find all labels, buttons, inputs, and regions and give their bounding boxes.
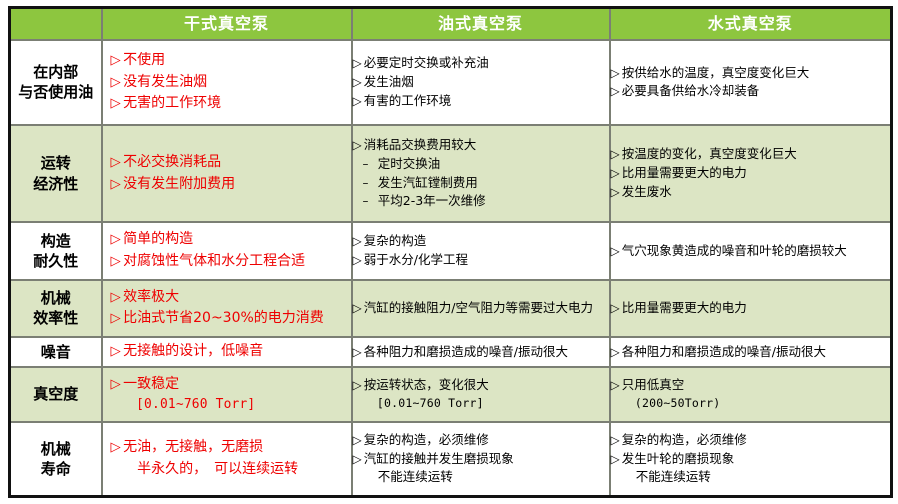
cell-item: 按运转状态，变化很大: [353, 376, 609, 395]
cell-item-list: 必要定时交换或补充油发生油烟有害的工作环境: [353, 54, 609, 110]
cell-item-list: 气穴现象黄造成的噪音和叶轮的磨损较大: [611, 242, 891, 261]
triangle-bullet-icon: [611, 165, 622, 183]
cell-item: 比油式节省20~30%的电力消费: [111, 308, 351, 330]
cell-item: 无油，无接触，无磨损: [111, 437, 351, 459]
cell-item-text: 不使用: [123, 52, 165, 68]
cell-item: 消耗品交换费用较大: [353, 136, 609, 155]
cell-item-text: 定时交换油: [374, 156, 440, 171]
cell-item: 平均2-3年一次维修: [353, 192, 609, 211]
dash-bullet-icon: [363, 193, 374, 211]
row-label-line: 机械: [11, 288, 101, 308]
cell-item-text: 发生汽缸镗制费用: [374, 175, 478, 190]
cell-item-list: 各种阻力和磨损造成的噪音/振动很大: [611, 343, 891, 362]
row-label-line: 噪音: [11, 342, 101, 362]
cell-item-text: 汽缸的接触并发生磨损现象: [364, 451, 514, 466]
row-label-line: 运转: [11, 153, 101, 173]
cell-item: 必要定时交换或补充油: [353, 54, 609, 73]
cell-oil: 消耗品交换费用较大 定时交换油 发生汽缸镗制费用 平均2-3年一次维修: [352, 125, 610, 223]
cell-item-text: 发生油烟: [364, 74, 414, 89]
cell-item-text: 按运转状态，变化很大: [364, 377, 489, 392]
cell-oil: 各种阻力和磨损造成的噪音/振动很大: [352, 337, 610, 367]
cell-item-text: [0.01~760 Torr]: [377, 396, 484, 410]
cell-oil: 按运转状态，变化很大[0.01~760 Torr]: [352, 367, 610, 422]
cell-dry: 无油，无接触，无磨损半永久的， 可以连续运转: [102, 422, 352, 496]
row-label-line: 寿命: [11, 459, 101, 479]
cell-item-text: 没有发生油烟: [123, 74, 207, 90]
cell-item: 汽缸的接触并发生磨损现象: [353, 450, 609, 469]
table-row: 运转经济性不必交换消耗品没有发生附加费用消耗品交换费用较大 定时交换油 发生汽缸…: [10, 125, 892, 223]
cell-item-text: 比油式节省20~30%的电力消费: [123, 310, 324, 326]
triangle-bullet-icon: [611, 344, 622, 362]
cell-item: 复杂的构造: [353, 232, 609, 251]
cell-item-text: 对腐蚀性气体和水分工程合适: [123, 253, 305, 269]
triangle-bullet-icon: [611, 65, 622, 83]
cell-item-text: 不能连续运转: [378, 469, 453, 484]
cell-item: 不使用: [111, 50, 351, 72]
cell-item-text: 无害的工作环境: [123, 95, 221, 111]
cell-item-text: 汽缸的接触阻力/空气阻力等需要过大电力: [364, 300, 593, 315]
cell-dry: 简单的构造对腐蚀性气体和水分工程合适: [102, 222, 352, 279]
cell-item: 汽缸的接触阻力/空气阻力等需要过大电力: [353, 299, 609, 318]
cell-item-list: 复杂的构造弱于水分/化学工程: [353, 232, 609, 270]
table-body: 在内部与否使用油不使用没有发生油烟无害的工作环境必要定时交换或补充油发生油烟有害…: [10, 40, 892, 497]
cell-oil: 汽缸的接触阻力/空气阻力等需要过大电力: [352, 280, 610, 337]
table-row: 在内部与否使用油不使用没有发生油烟无害的工作环境必要定时交换或补充油发生油烟有害…: [10, 40, 892, 125]
table-row: 真空度一致稳定[0.01~760 Torr]按运转状态，变化很大[0.01~76…: [10, 367, 892, 422]
cell-item-list: 一致稳定[0.01~760 Torr]: [111, 374, 351, 416]
cell-dry: 不使用没有发生油烟无害的工作环境: [102, 40, 352, 125]
cell-item-text: 复杂的构造: [364, 233, 427, 248]
triangle-bullet-icon: [353, 74, 364, 92]
triangle-bullet-icon: [353, 377, 364, 395]
cell-item-text: 无接触的设计，低噪音: [123, 343, 263, 359]
cell-water: 气穴现象黄造成的噪音和叶轮的磨损较大: [610, 222, 892, 279]
cell-item: 不能连续运转: [611, 468, 891, 487]
cell-item: 复杂的构造，必须维修: [611, 431, 891, 450]
triangle-bullet-icon: [111, 94, 124, 115]
cell-item: 必要具备供给水冷却装备: [611, 82, 891, 101]
cell-dry: 效率极大比油式节省20~30%的电力消费: [102, 280, 352, 337]
row-label-line: 构造: [11, 231, 101, 251]
cell-item-text: 按供给水的温度，真空度变化巨大: [622, 65, 810, 80]
row-label-line: 机械: [11, 439, 101, 459]
triangle-bullet-icon: [353, 55, 364, 73]
cell-item-text: 平均2-3年一次维修: [374, 193, 486, 208]
cell-item-list: 只用低真空(200~50Torr): [611, 376, 891, 412]
cell-item: 只用低真空: [611, 376, 891, 395]
row-label-line: 经济性: [11, 174, 101, 194]
triangle-bullet-icon: [111, 51, 124, 72]
triangle-bullet-icon: [353, 137, 364, 155]
table-row: 机械寿命无油，无接触，无磨损半永久的， 可以连续运转复杂的构造，必须维修汽缸的接…: [10, 422, 892, 496]
triangle-bullet-icon: [611, 83, 622, 101]
cell-water: 按供给水的温度，真空度变化巨大必要具备供给水冷却装备: [610, 40, 892, 125]
triangle-bullet-icon: [611, 300, 622, 318]
cell-item: 没有发生附加费用: [111, 174, 351, 196]
cell-item: [0.01~760 Torr]: [111, 395, 351, 415]
vacuum-pump-comparison-table: 干式真空泵 油式真空泵 水式真空泵 在内部与否使用油不使用没有发生油烟无害的工作…: [8, 6, 893, 498]
cell-item: 定时交换油: [353, 155, 609, 174]
cell-item-list: 复杂的构造，必须维修发生叶轮的磨损现象不能连续运转: [611, 431, 891, 487]
cell-item-text: 不能连续运转: [636, 469, 711, 484]
cell-item: 比用量需要更大的电力: [611, 299, 891, 318]
triangle-bullet-icon: [611, 146, 622, 164]
triangle-bullet-icon: [111, 175, 124, 196]
header-corner-cell: [10, 8, 102, 41]
table-row: 构造耐久性简单的构造对腐蚀性气体和水分工程合适复杂的构造弱于水分/化学工程气穴现…: [10, 222, 892, 279]
cell-item-list: 不必交换消耗品没有发生附加费用: [111, 152, 351, 195]
cell-item-text: 必要具备供给水冷却装备: [622, 83, 760, 98]
triangle-bullet-icon: [353, 252, 364, 270]
cell-item-list: 按运转状态，变化很大[0.01~760 Torr]: [353, 376, 609, 412]
cell-item: 各种阻力和磨损造成的噪音/振动很大: [611, 343, 891, 362]
cell-item-text: 消耗品交换费用较大: [364, 137, 477, 152]
triangle-bullet-icon: [611, 432, 622, 450]
triangle-bullet-icon: [611, 451, 622, 469]
cell-item-text: 简单的构造: [123, 231, 193, 247]
cell-item: [0.01~760 Torr]: [353, 395, 609, 412]
triangle-bullet-icon: [111, 73, 124, 94]
cell-item: 无害的工作环境: [111, 93, 351, 115]
cell-item-text: 必要定时交换或补充油: [364, 55, 489, 70]
triangle-bullet-icon: [611, 243, 622, 261]
table-header: 干式真空泵 油式真空泵 水式真空泵: [10, 8, 892, 41]
cell-item: 效率极大: [111, 287, 351, 309]
cell-dry: 一致稳定[0.01~760 Torr]: [102, 367, 352, 422]
row-label: 构造耐久性: [10, 222, 102, 279]
cell-item-list: 按温度的变化，真空度变化巨大比用量需要更大的电力发生废水: [611, 145, 891, 201]
cell-item-list: 无接触的设计，低噪音: [111, 341, 351, 363]
cell-item-text: 比用量需要更大的电力: [622, 300, 747, 315]
cell-item-list: 各种阻力和磨损造成的噪音/振动很大: [353, 343, 609, 362]
cell-water: 只用低真空(200~50Torr): [610, 367, 892, 422]
cell-item-text: 效率极大: [123, 289, 179, 305]
cell-item: 没有发生油烟: [111, 72, 351, 94]
cell-item-text: (200~50Torr): [635, 396, 720, 410]
cell-item: 各种阻力和磨损造成的噪音/振动很大: [353, 343, 609, 362]
row-label-line: 耐久性: [11, 251, 101, 271]
triangle-bullet-icon: [353, 344, 364, 362]
row-label-line: 与否使用油: [11, 82, 101, 102]
triangle-bullet-icon: [611, 377, 622, 395]
triangle-bullet-icon: [111, 342, 124, 363]
cell-item: 简单的构造: [111, 229, 351, 251]
cell-item-text: 发生叶轮的磨损现象: [622, 451, 735, 466]
cell-item-text: 复杂的构造，必须维修: [622, 432, 747, 447]
triangle-bullet-icon: [111, 252, 124, 273]
cell-item: 一致稳定: [111, 374, 351, 396]
row-label: 真空度: [10, 367, 102, 422]
triangle-bullet-icon: [111, 153, 124, 174]
triangle-bullet-icon: [111, 230, 124, 251]
cell-item: 气穴现象黄造成的噪音和叶轮的磨损较大: [611, 242, 891, 261]
triangle-bullet-icon: [611, 184, 622, 202]
cell-item-text: 无油，无接触，无磨损: [123, 439, 263, 455]
cell-item-text: 有害的工作环境: [364, 93, 452, 108]
header-dry-pump: 干式真空泵: [102, 8, 352, 41]
cell-dry: 无接触的设计，低噪音: [102, 337, 352, 367]
cell-item: 发生油烟: [353, 73, 609, 92]
table-row: 机械效率性效率极大比油式节省20~30%的电力消费汽缸的接触阻力/空气阻力等需要…: [10, 280, 892, 337]
cell-water: 各种阻力和磨损造成的噪音/振动很大: [610, 337, 892, 367]
cell-item: 发生叶轮的磨损现象: [611, 450, 891, 469]
row-label-line: 在内部: [11, 62, 101, 82]
dash-bullet-icon: [363, 175, 374, 193]
cell-item: 按供给水的温度，真空度变化巨大: [611, 64, 891, 83]
triangle-bullet-icon: [111, 375, 124, 396]
cell-item-text: 半永久的， 可以连续运转: [137, 461, 298, 477]
cell-item-text: 比用量需要更大的电力: [622, 165, 747, 180]
cell-item-text: 一致稳定: [123, 376, 179, 392]
cell-item-list: 不使用没有发生油烟无害的工作环境: [111, 50, 351, 115]
cell-item-list: 复杂的构造，必须维修汽缸的接触并发生磨损现象不能连续运转: [353, 431, 609, 487]
cell-item-text: 只用低真空: [622, 377, 685, 392]
cell-item-list: 消耗品交换费用较大 定时交换油 发生汽缸镗制费用 平均2-3年一次维修: [353, 136, 609, 211]
cell-item-text: 气穴现象黄造成的噪音和叶轮的磨损较大: [622, 243, 847, 258]
cell-item-list: 简单的构造对腐蚀性气体和水分工程合适: [111, 229, 351, 272]
cell-item: 对腐蚀性气体和水分工程合适: [111, 251, 351, 273]
triangle-bullet-icon: [111, 309, 124, 330]
cell-item-list: 汽缸的接触阻力/空气阻力等需要过大电力: [353, 299, 609, 318]
cell-item: 半永久的， 可以连续运转: [111, 459, 351, 481]
cell-item: 发生废水: [611, 183, 891, 202]
table-row: 噪音无接触的设计，低噪音各种阻力和磨损造成的噪音/振动很大各种阻力和磨损造成的噪…: [10, 337, 892, 367]
cell-item: 按温度的变化，真空度变化巨大: [611, 145, 891, 164]
cell-item: 有害的工作环境: [353, 92, 609, 111]
cell-item: 无接触的设计，低噪音: [111, 341, 351, 363]
cell-water: 复杂的构造，必须维修发生叶轮的磨损现象不能连续运转: [610, 422, 892, 496]
cell-oil: 复杂的构造弱于水分/化学工程: [352, 222, 610, 279]
cell-water: 比用量需要更大的电力: [610, 280, 892, 337]
cell-item-list: 无油，无接触，无磨损半永久的， 可以连续运转: [111, 437, 351, 480]
row-label: 在内部与否使用油: [10, 40, 102, 125]
cell-item: 不必交换消耗品: [111, 152, 351, 174]
cell-oil: 复杂的构造，必须维修汽缸的接触并发生磨损现象不能连续运转: [352, 422, 610, 496]
comparison-table-container: 干式真空泵 油式真空泵 水式真空泵 在内部与否使用油不使用没有发生油烟无害的工作…: [0, 0, 898, 504]
row-label-line: 真空度: [11, 384, 101, 404]
row-label: 噪音: [10, 337, 102, 367]
cell-item: 不能连续运转: [353, 468, 609, 487]
triangle-bullet-icon: [353, 233, 364, 251]
triangle-bullet-icon: [111, 438, 124, 459]
triangle-bullet-icon: [353, 432, 364, 450]
cell-item-text: 复杂的构造，必须维修: [364, 432, 489, 447]
cell-oil: 必要定时交换或补充油发生油烟有害的工作环境: [352, 40, 610, 125]
cell-item: 比用量需要更大的电力: [611, 164, 891, 183]
cell-item-text: 各种阻力和磨损造成的噪音/振动很大: [364, 344, 568, 359]
cell-item-list: 效率极大比油式节省20~30%的电力消费: [111, 287, 351, 330]
triangle-bullet-icon: [353, 93, 364, 111]
cell-item: 发生汽缸镗制费用: [353, 174, 609, 193]
row-label: 机械寿命: [10, 422, 102, 496]
row-label-line: 效率性: [11, 308, 101, 328]
row-label: 运转经济性: [10, 125, 102, 223]
row-label: 机械效率性: [10, 280, 102, 337]
header-oil-pump: 油式真空泵: [352, 8, 610, 41]
cell-item-text: 按温度的变化，真空度变化巨大: [622, 146, 797, 161]
cell-item-text: 发生废水: [622, 184, 672, 199]
cell-item-list: 按供给水的温度，真空度变化巨大必要具备供给水冷却装备: [611, 64, 891, 102]
cell-item-list: 比用量需要更大的电力: [611, 299, 891, 318]
triangle-bullet-icon: [353, 300, 364, 318]
cell-item-text: [0.01~760 Torr]: [136, 397, 255, 412]
cell-item-text: 弱于水分/化学工程: [364, 252, 468, 267]
cell-item-text: 不必交换消耗品: [123, 154, 221, 170]
cell-item: 复杂的构造，必须维修: [353, 431, 609, 450]
header-row: 干式真空泵 油式真空泵 水式真空泵: [10, 8, 892, 41]
cell-item: (200~50Torr): [611, 395, 891, 412]
header-water-pump: 水式真空泵: [610, 8, 892, 41]
cell-item: 弱于水分/化学工程: [353, 251, 609, 270]
triangle-bullet-icon: [111, 288, 124, 309]
cell-item-text: 没有发生附加费用: [123, 176, 235, 192]
cell-water: 按温度的变化，真空度变化巨大比用量需要更大的电力发生废水: [610, 125, 892, 223]
cell-dry: 不必交换消耗品没有发生附加费用: [102, 125, 352, 223]
dash-bullet-icon: [363, 156, 374, 174]
cell-item-text: 各种阻力和磨损造成的噪音/振动很大: [622, 344, 826, 359]
triangle-bullet-icon: [353, 451, 364, 469]
